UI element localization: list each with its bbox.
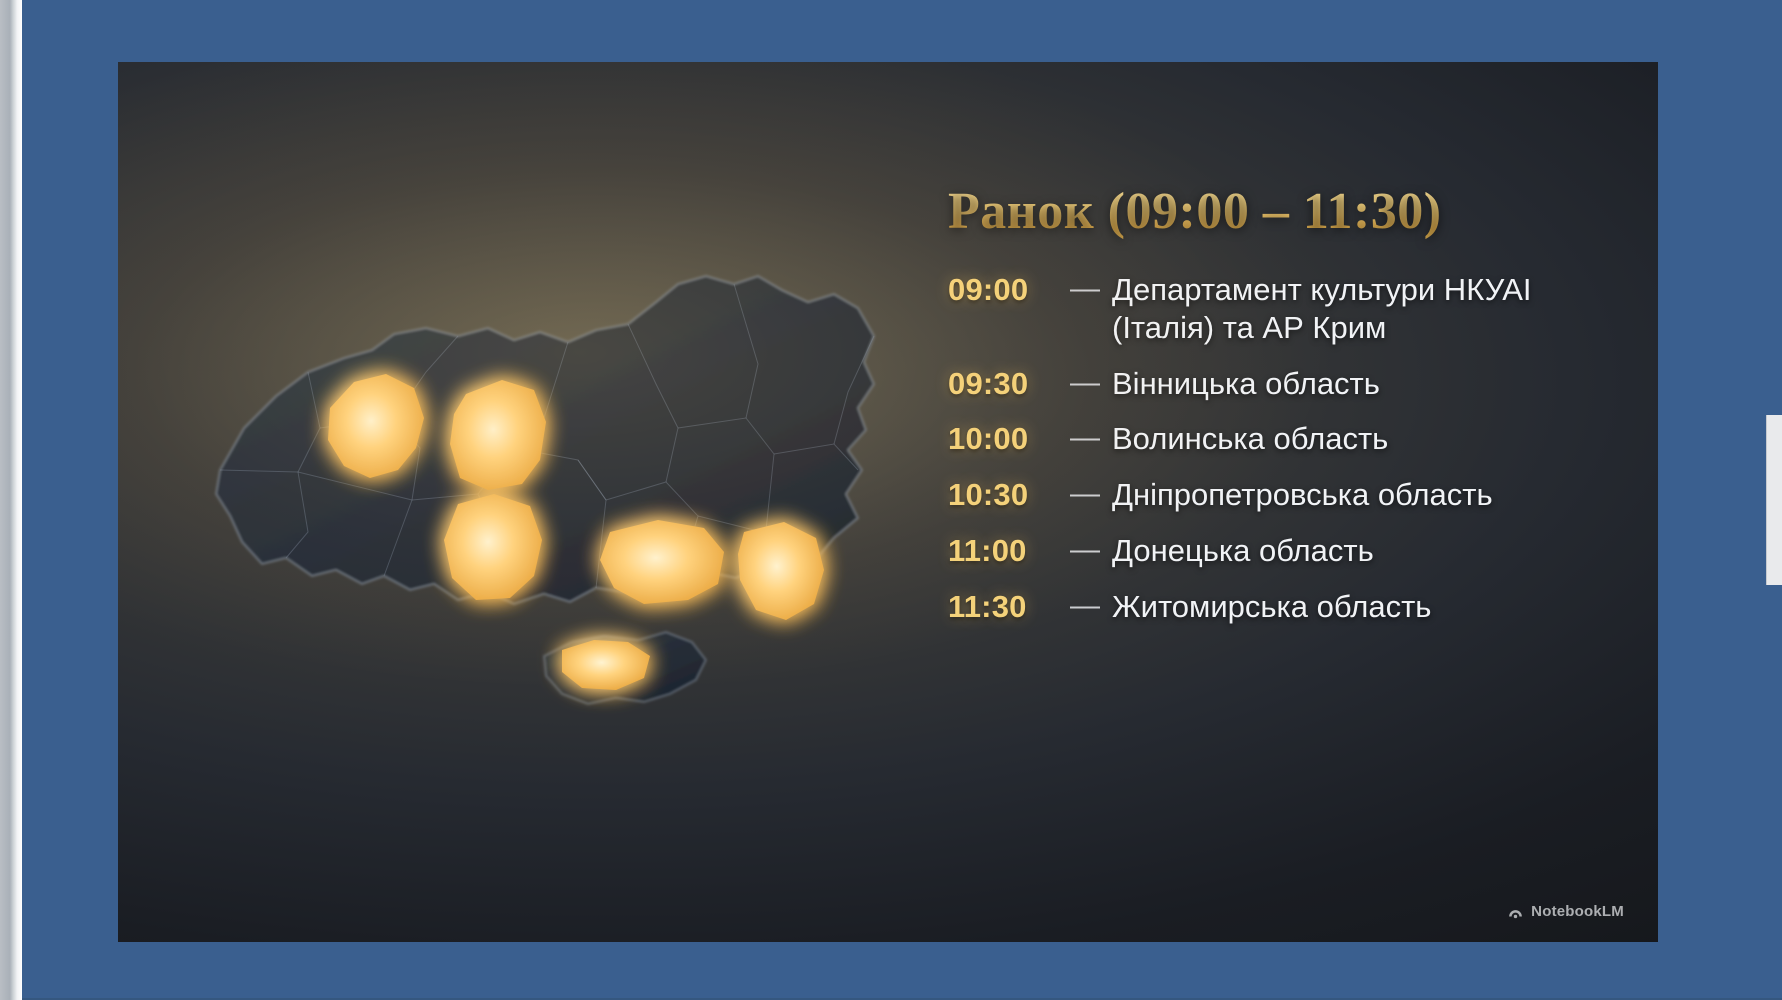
list-item: 09:00 — Департамент культури НКУАІ (Італ…	[948, 271, 1608, 347]
watermark-label: NotebookLM	[1531, 903, 1624, 920]
watermark: NotebookLM	[1507, 903, 1624, 920]
list-item: 09:30 — Вінницька область	[948, 365, 1608, 403]
page-title: Ранок (09:00 – 11:30)	[948, 182, 1608, 241]
right-edge-panel[interactable]	[1766, 415, 1782, 585]
region-donetsk-glow	[738, 522, 824, 620]
schedule-list: 09:00 — Департамент культури НКУАІ (Італ…	[948, 271, 1608, 626]
schedule-dash: —	[1070, 476, 1100, 513]
list-item: 10:30 — Дніпропетровська область	[948, 476, 1608, 514]
schedule-time: 09:30	[948, 365, 1066, 403]
schedule-label: Житомирська область	[1112, 588, 1582, 626]
map-crimea-group	[544, 632, 706, 704]
list-item: 11:30 — Житомирська область	[948, 588, 1608, 626]
schedule-time: 11:00	[948, 532, 1066, 570]
schedule-label: Волинська область	[1112, 420, 1582, 458]
schedule-label: Вінницька область	[1112, 365, 1582, 403]
left-gutter-strip	[0, 0, 22, 1000]
schedule-dash: —	[1070, 588, 1100, 625]
schedule-label: Донецька область	[1112, 532, 1582, 570]
list-item: 10:00 — Волинська область	[948, 420, 1608, 458]
notebooklm-logo-icon	[1507, 903, 1524, 920]
schedule-time: 10:30	[948, 476, 1066, 514]
schedule-time: 10:00	[948, 420, 1066, 458]
schedule-label: Дніпропетровська область	[1112, 476, 1582, 514]
schedule-label: Департамент культури НКУАІ (Італія) та А…	[1112, 271, 1582, 347]
ukraine-regions-map	[158, 232, 918, 792]
slide-viewer-root: Ранок (09:00 – 11:30) 09:00 — Департамен…	[0, 0, 1782, 1000]
schedule-dash: —	[1070, 420, 1100, 457]
slide-card: Ранок (09:00 – 11:30) 09:00 — Департамен…	[118, 62, 1658, 942]
list-item: 11:00 — Донецька область	[948, 532, 1608, 570]
map-mainland-group	[216, 276, 874, 620]
schedule-dash: —	[1070, 271, 1100, 308]
schedule-time: 09:00	[948, 271, 1066, 309]
schedule-dash: —	[1070, 365, 1100, 402]
schedule-pane: Ранок (09:00 – 11:30) 09:00 — Департамен…	[948, 182, 1608, 644]
schedule-dash: —	[1070, 532, 1100, 569]
schedule-time: 11:30	[948, 588, 1066, 626]
map-svg	[158, 232, 918, 792]
